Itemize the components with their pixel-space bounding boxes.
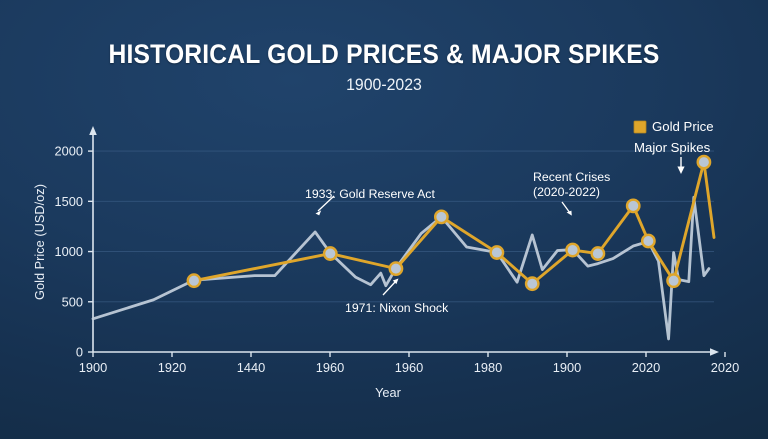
plot-area: 0500100015002000 19001920144019601960198…	[0, 0, 768, 439]
axes	[89, 126, 719, 356]
y-axis-arrow-icon	[89, 126, 97, 135]
gold-price-marker-9[interactable]	[642, 235, 654, 247]
gold-price-marker-0[interactable]	[188, 274, 200, 286]
gridlines	[93, 151, 714, 302]
legend-label-gold-price[interactable]: Gold Price	[652, 119, 714, 134]
x-tick-label-1: 1920	[158, 360, 186, 375]
gold-price-chart: HISTORICAL GOLD PRICES & MAJOR SPIKES 19…	[0, 0, 768, 439]
major-spikes-pointer-head-icon	[677, 167, 684, 175]
y-axis-ticks: 0500100015002000	[55, 144, 93, 360]
gold-price-marker-2[interactable]	[390, 262, 402, 274]
gold-price-marker-7[interactable]	[592, 247, 604, 259]
gold-price-marker-10[interactable]	[667, 274, 679, 286]
gold-price-marker-1[interactable]	[324, 247, 336, 259]
annotation-gold-reserve-act: 1933: Gold Reserve Act	[305, 187, 435, 201]
annotation-nixon-shock: 1971: Nixon Shock	[345, 301, 449, 315]
x-tick-label-5: 1980	[474, 360, 502, 375]
legend-swatch-gold-price	[634, 121, 646, 133]
y-axis-title: Gold Price (USD/oz)	[32, 184, 47, 300]
y-tick-label-0: 0	[76, 345, 83, 360]
annotation-recent-crises-line1: Recent Crises	[533, 170, 610, 184]
x-axis-title: Year	[375, 385, 402, 400]
x-tick-label-6: 1900	[553, 360, 581, 375]
y-tick-label-500: 500	[62, 294, 83, 309]
gold-price-marker-8[interactable]	[627, 200, 639, 212]
gold-price-line	[194, 162, 714, 284]
series-gold-price	[194, 162, 714, 284]
x-axis-ticks: 190019201440196019601980190020202020	[79, 352, 739, 375]
recent-crises-arrow-icon	[562, 202, 570, 213]
x-tick-label-8: 2020	[711, 360, 739, 375]
y-tick-label-1500: 1500	[55, 194, 83, 209]
x-tick-label-3: 1960	[316, 360, 344, 375]
annotations: 1933: Gold Reserve Act 1971: Nixon Shock…	[305, 170, 610, 315]
y-tick-label-2000: 2000	[55, 144, 83, 159]
x-tick-label-2: 1440	[237, 360, 265, 375]
gold-price-marker-6[interactable]	[566, 244, 578, 256]
x-axis-arrow-icon	[710, 348, 719, 356]
x-tick-label-7: 2020	[632, 360, 660, 375]
x-tick-label-0: 1900	[79, 360, 107, 375]
gold-price-marker-4[interactable]	[491, 246, 503, 258]
legend-label-major-spikes[interactable]: Major Spikes	[634, 140, 711, 155]
gold-price-marker-5[interactable]	[526, 277, 538, 289]
y-tick-label-1000: 1000	[55, 244, 83, 259]
annotation-recent-crises-line2: (2020-2022)	[533, 185, 600, 199]
gold-price-marker-11[interactable]	[698, 156, 710, 168]
gold-price-marker-3[interactable]	[435, 211, 447, 223]
x-tick-label-4: 1960	[395, 360, 423, 375]
